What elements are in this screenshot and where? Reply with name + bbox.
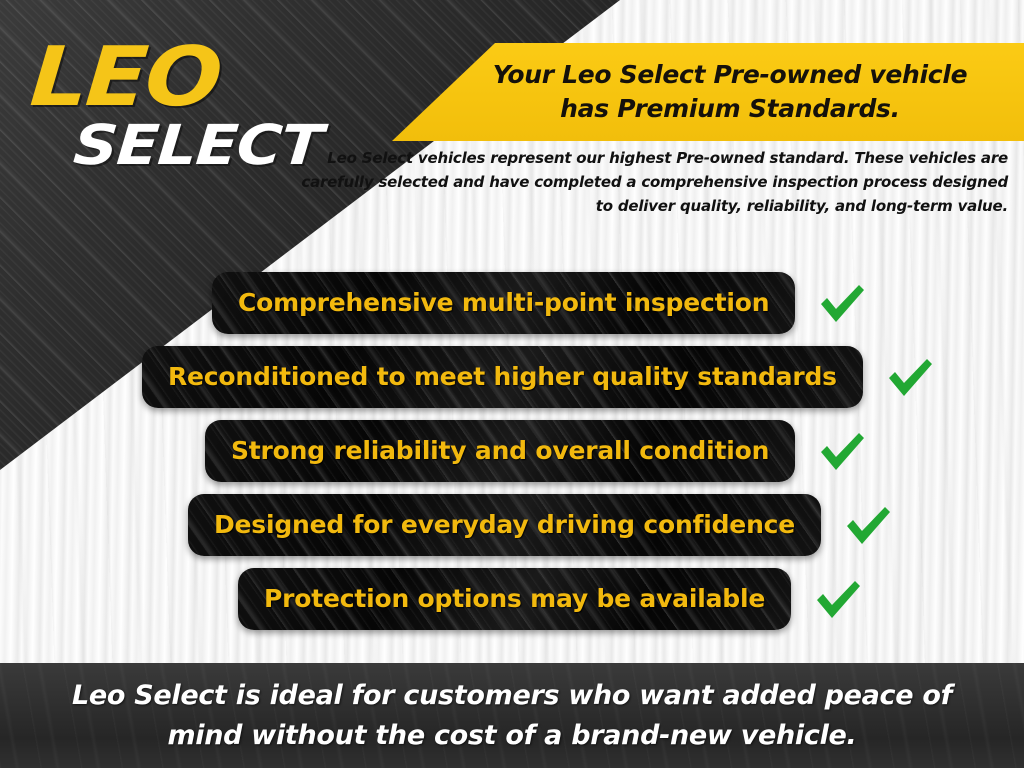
logo-word-select: SELECT [71,116,324,174]
feature-label: Strong reliability and overall condition [231,437,769,465]
feature-label: Designed for everyday driving confidence [214,511,795,539]
feature-row: Designed for everyday driving confidence [188,494,893,556]
footer-text: Leo Select is ideal for customers who wa… [52,676,972,756]
feature-pill: Protection options may be available [238,568,791,630]
headline-line-2: has Premium Standards. [460,92,1000,126]
feature-label: Reconditioned to meet higher quality sta… [168,363,837,391]
poster-canvas: LEO SELECT Your Leo Select Pre-owned veh… [0,0,1024,768]
check-icon [815,278,867,328]
body-paragraph: Leo Select vehicles represent our highes… [300,146,1008,218]
footer-bar: Leo Select is ideal for customers who wa… [0,663,1024,768]
feature-row: Protection options may be available [238,568,863,630]
feature-row: Comprehensive multi-point inspection [212,272,867,334]
check-icon [841,500,893,550]
logo-word-leo: LEO [28,36,224,120]
feature-list: Comprehensive multi-point inspection Rec… [0,272,1024,652]
feature-row: Strong reliability and overall condition [205,420,867,482]
feature-pill: Strong reliability and overall condition [205,420,795,482]
feature-pill: Reconditioned to meet higher quality sta… [142,346,863,408]
feature-label: Protection options may be available [264,585,765,613]
check-icon [883,352,935,402]
feature-row: Reconditioned to meet higher quality sta… [142,346,935,408]
check-icon [815,426,867,476]
headline-line-1: Your Leo Select Pre-owned vehicle [460,58,1000,92]
footer-line-1: Leo Select is ideal for customers who wa… [52,676,972,716]
brand-logo: LEO SELECT [30,36,330,186]
check-icon [811,574,863,624]
feature-label: Comprehensive multi-point inspection [238,289,769,317]
footer-line-2: mind without the cost of a brand-new veh… [52,716,972,756]
feature-pill: Designed for everyday driving confidence [188,494,821,556]
feature-pill: Comprehensive multi-point inspection [212,272,795,334]
headline-text: Your Leo Select Pre-owned vehicle has Pr… [460,58,1000,126]
